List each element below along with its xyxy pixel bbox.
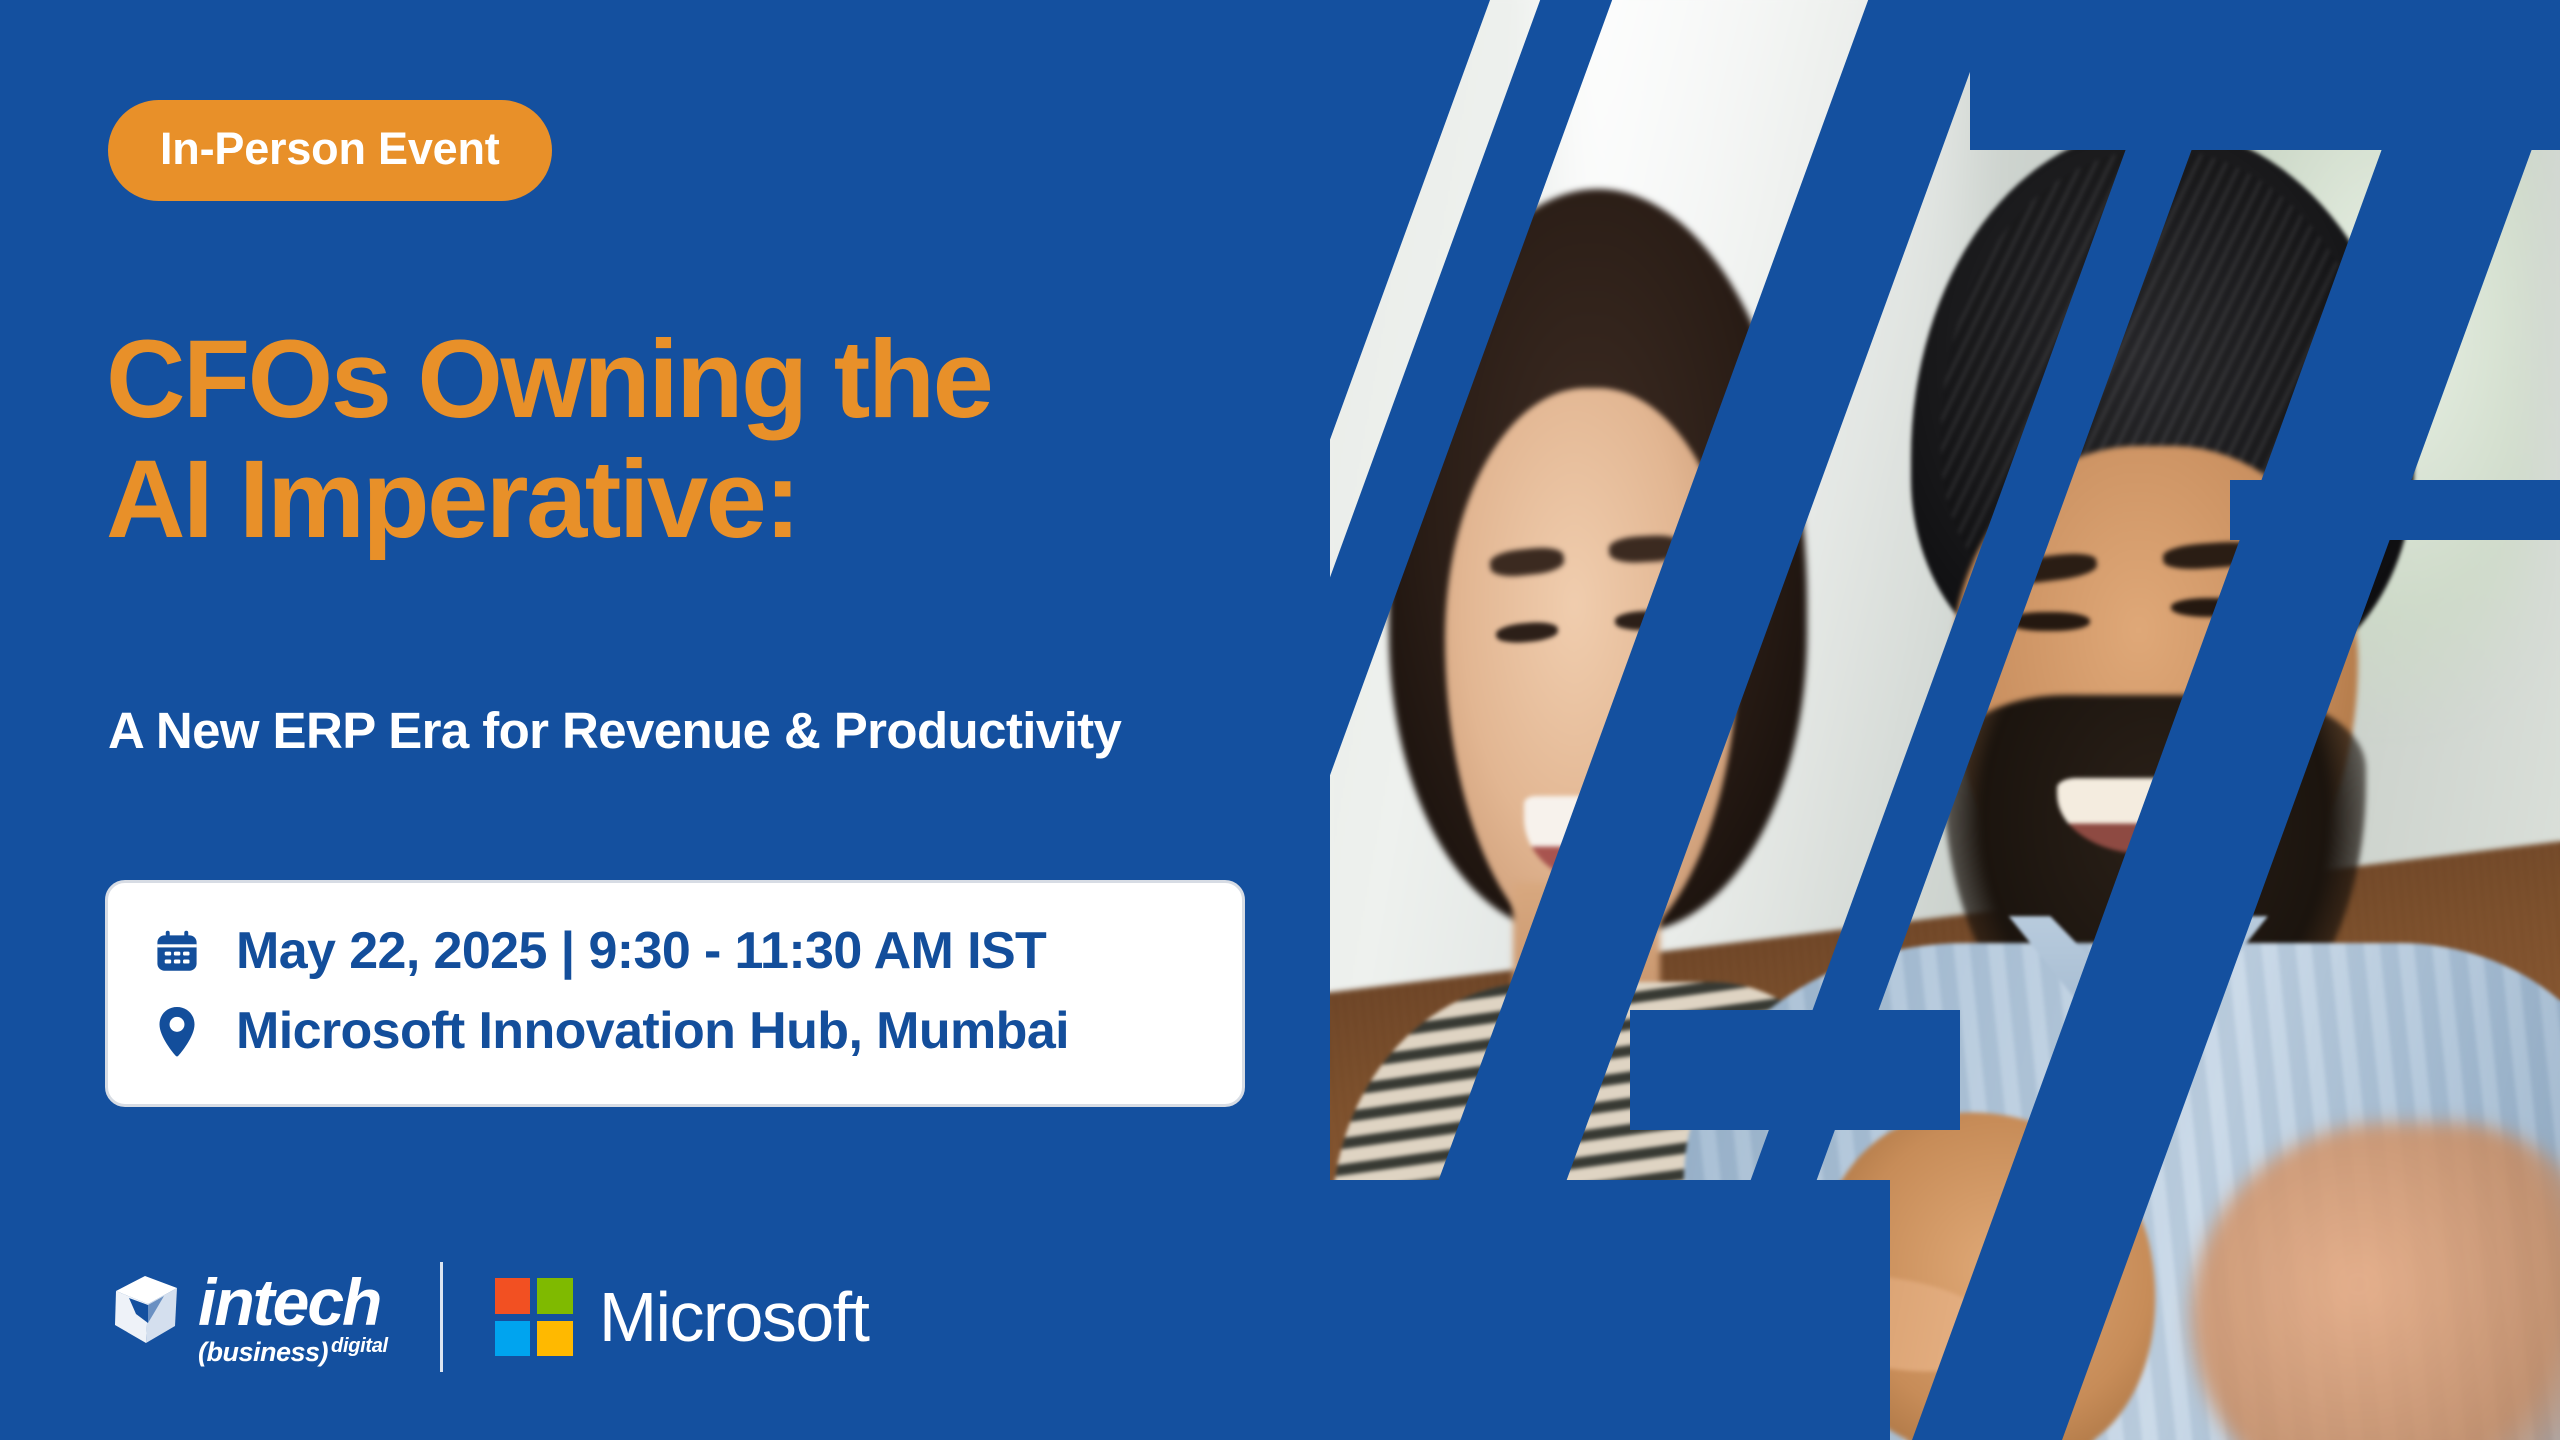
intech-tagline: (business) digital xyxy=(198,1339,388,1366)
event-type-badge: In-Person Event xyxy=(108,100,552,201)
event-location-text: Microsoft Innovation Hub, Mumbai xyxy=(236,997,1069,1067)
cube-icon xyxy=(108,1271,182,1351)
green-square xyxy=(537,1278,573,1314)
content-column: In-Person Event CFOs Owning the AI Imper… xyxy=(0,0,1330,1440)
page-title: CFOs Owning the AI Imperative: xyxy=(106,320,991,560)
logo-divider xyxy=(440,1262,443,1372)
blue-bar-top-right xyxy=(1970,0,2560,150)
calendar-icon xyxy=(152,924,202,980)
blue-square xyxy=(495,1321,531,1357)
page-subtitle: A New ERP Era for Revenue & Productivity xyxy=(108,700,1121,761)
intech-tagline-main: (business) xyxy=(198,1339,328,1366)
microsoft-wordmark: Microsoft xyxy=(599,1282,869,1352)
location-pin-icon xyxy=(152,1004,202,1060)
event-location-row: Microsoft Innovation Hub, Mumbai xyxy=(152,997,1198,1067)
event-banner: In-Person Event CFOs Owning the AI Imper… xyxy=(0,0,2560,1440)
logo-lockup-row: intech (business) digital Microsoft xyxy=(108,1262,868,1372)
event-datetime-text: May 22, 2025 | 9:30 - 11:30 AM IST xyxy=(236,917,1046,987)
blue-bar-lower-mid xyxy=(1630,1010,1960,1130)
blue-bar-lower-left xyxy=(1330,1180,1890,1440)
microsoft-squares-icon xyxy=(495,1278,573,1356)
red-square xyxy=(495,1278,531,1314)
blue-bar-mid-right xyxy=(2230,480,2560,540)
photo-region xyxy=(1330,0,2560,1440)
intech-logo: intech (business) digital xyxy=(108,1269,388,1366)
microsoft-logo: Microsoft xyxy=(495,1278,869,1356)
yellow-square xyxy=(537,1321,573,1357)
event-datetime-row: May 22, 2025 | 9:30 - 11:30 AM IST xyxy=(152,917,1198,987)
intech-tagline-superscript: digital xyxy=(331,1336,388,1356)
intech-wordmark: intech (business) digital xyxy=(198,1269,388,1366)
event-details-card: May 22, 2025 | 9:30 - 11:30 AM IST Micro… xyxy=(105,880,1245,1107)
intech-name: intech xyxy=(198,1269,388,1335)
